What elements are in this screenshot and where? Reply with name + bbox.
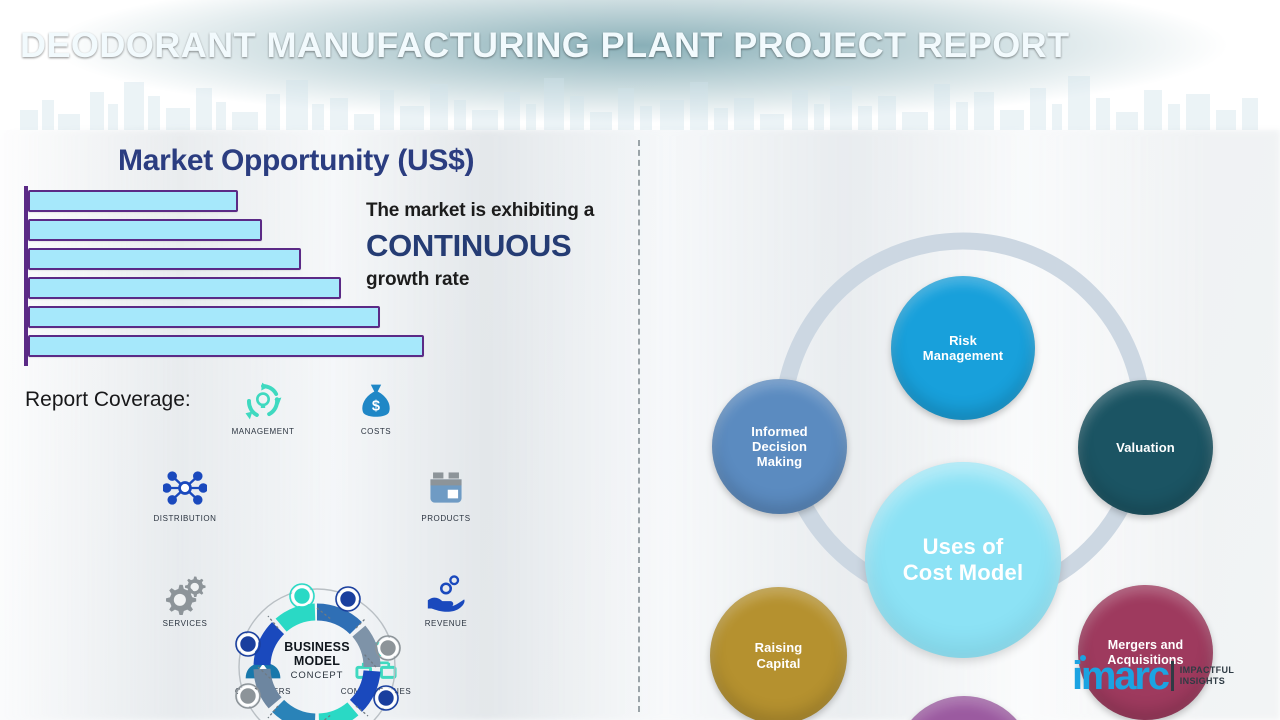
node-label-line3: Making bbox=[744, 454, 814, 469]
logo-tagline-line-1: IMPACTFUL bbox=[1180, 665, 1234, 676]
bar-2 bbox=[28, 219, 262, 241]
uses-of-cost-model-diagram: Risk Management Valuation Mergers and Ac… bbox=[638, 130, 1280, 720]
city-skyline-graphic bbox=[0, 70, 1280, 130]
logo-dot-icon bbox=[1080, 655, 1086, 661]
bar-4 bbox=[28, 277, 341, 299]
logo-wordmark: imarc bbox=[1072, 660, 1168, 692]
package-box-icon bbox=[398, 465, 494, 511]
coverage-caption: REVENUE bbox=[398, 619, 494, 628]
coverage-caption: SERVICES bbox=[137, 619, 233, 628]
node-informed-decision-making[interactable]: Informed Decision Making bbox=[712, 379, 847, 514]
market-opportunity-bar-chart bbox=[24, 186, 424, 366]
node-center-uses-of-cost-model[interactable]: Uses of Cost Model bbox=[865, 462, 1061, 658]
node-valuation[interactable]: Valuation bbox=[1078, 380, 1213, 515]
callout-line-1: The market is exhibiting a bbox=[366, 200, 634, 222]
coverage-caption: DISTRIBUTION bbox=[137, 514, 233, 523]
market-callout: The market is exhibiting a CONTINUOUS gr… bbox=[366, 200, 634, 291]
report-title: DEODORANT MANUFACTURING PLANT PROJECT RE… bbox=[20, 26, 1070, 66]
wheel-segments bbox=[262, 612, 372, 720]
center-label-line2: Cost Model bbox=[903, 560, 1024, 585]
money-bag-icon: $ bbox=[328, 378, 424, 424]
coverage-item-management[interactable]: MANAGEMENT bbox=[215, 378, 311, 436]
svg-text:$: $ bbox=[372, 399, 380, 415]
header-banner: DEODORANT MANUFACTURING PLANT PROJECT RE… bbox=[0, 0, 1280, 130]
market-opportunity-title: Market Opportunity (US$) bbox=[118, 144, 474, 178]
logo-tagline: IMPACTFUL INSIGHTS bbox=[1180, 665, 1234, 688]
bar-5 bbox=[28, 306, 380, 328]
node-raising-capital[interactable]: Raising Capital bbox=[710, 587, 847, 720]
coverage-item-revenue[interactable]: REVENUE bbox=[398, 570, 494, 628]
callout-line-3: growth rate bbox=[366, 269, 634, 291]
node-label-line1: Raising bbox=[748, 640, 810, 655]
node-mergers-acquisitions[interactable]: Mergers and Acquisitions bbox=[1078, 585, 1213, 720]
node-label-line1: Mergers and bbox=[1100, 638, 1190, 653]
bar-1 bbox=[28, 190, 238, 212]
business-model-wheel: BUSINESS MODEL CONCEPT bbox=[228, 578, 406, 720]
left-panel: Market Opportunity (US$) The market is e… bbox=[0, 130, 638, 720]
hand-coins-icon bbox=[398, 570, 494, 616]
coverage-caption: COSTS bbox=[328, 427, 424, 436]
node-label-line1: Valuation bbox=[1109, 440, 1182, 455]
coverage-caption: PRODUCTS bbox=[398, 514, 494, 523]
logo-tagline-line-2: INSIGHTS bbox=[1180, 676, 1234, 687]
node-label-line2: Decision bbox=[744, 439, 814, 454]
report-coverage-label: Report Coverage: bbox=[25, 388, 191, 412]
coverage-item-services[interactable]: SERVICES bbox=[137, 570, 233, 628]
bar-6 bbox=[28, 335, 424, 357]
gears-icon bbox=[137, 570, 233, 616]
slide-root: DEODORANT MANUFACTURING PLANT PROJECT RE… bbox=[0, 0, 1280, 720]
node-label-line2: Capital bbox=[748, 656, 810, 671]
node-label-line1: Risk bbox=[916, 333, 1010, 348]
logo-divider bbox=[1171, 661, 1174, 691]
recycle-lightbulb-icon bbox=[215, 378, 311, 424]
center-label-line1: Uses of bbox=[923, 534, 1004, 559]
network-nodes-icon bbox=[137, 465, 233, 511]
coverage-caption: MANAGEMENT bbox=[215, 427, 311, 436]
imarc-logo[interactable]: imarc IMPACTFUL INSIGHTS bbox=[1072, 660, 1234, 692]
bar-3 bbox=[28, 248, 301, 270]
coverage-item-products[interactable]: PRODUCTS bbox=[398, 465, 494, 523]
node-label-line2: Management bbox=[916, 348, 1010, 363]
coverage-item-distribution[interactable]: DISTRIBUTION bbox=[137, 465, 233, 523]
coverage-item-costs[interactable]: $ COSTS bbox=[328, 378, 424, 436]
node-label-line1: Informed bbox=[744, 424, 814, 439]
callout-emphasis: CONTINUOUS bbox=[366, 228, 634, 264]
node-risk-management[interactable]: Risk Management bbox=[891, 276, 1035, 420]
